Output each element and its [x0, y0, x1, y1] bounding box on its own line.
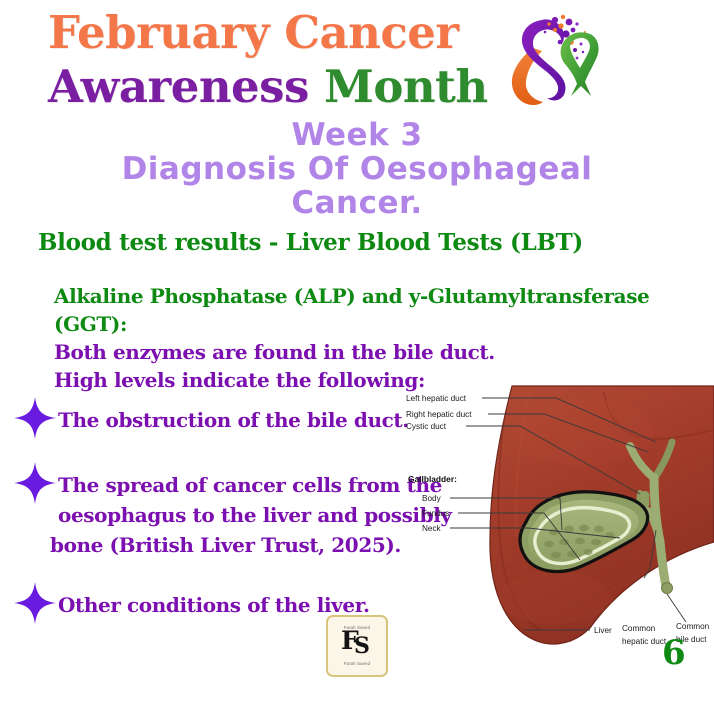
- header-title-awareness: Awareness: [48, 60, 309, 113]
- label-body: Body: [422, 494, 442, 503]
- liver-gallbladder-anatomy-diagram: Left hepatic duct Right hepatic duct Cys…: [404, 372, 714, 668]
- bullet-2-line-2: oesophagus to the liver and possibly: [58, 500, 452, 530]
- subtitle-week: Week 3: [0, 118, 714, 152]
- label-common-hepatic-duct-1: Common: [622, 624, 656, 633]
- logo-micro-bottom: Farah Saeed: [344, 661, 370, 667]
- awareness-ribbons-logo: [497, 4, 601, 116]
- label-cystic-duct: Cystic duct: [406, 422, 447, 431]
- sparkle-star-icon: [12, 395, 58, 441]
- bullet-item-3: Other conditions of the liver.: [56, 590, 370, 626]
- slide-canvas: February Cancer Awareness Month: [0, 0, 714, 715]
- subtitle-block: Week 3 Diagnosis Of Oesophageal Cancer.: [0, 118, 714, 220]
- page-number: 6: [662, 636, 686, 670]
- brand-logo-fs: Farah Saeed F S Farah Saeed: [326, 615, 388, 677]
- header-title-line-1: February Cancer: [48, 6, 488, 60]
- header-title-block: February Cancer Awareness Month: [48, 6, 488, 114]
- label-common-bile-duct-1: Common: [676, 622, 710, 631]
- logo-monogram: F S: [339, 631, 375, 661]
- both-enzymes-line: Both enzymes are found in the bile duct.: [54, 338, 654, 366]
- logo-letter-s: S: [354, 635, 370, 657]
- label-right-hepatic-duct: Right hepatic duct: [406, 410, 472, 419]
- bullet-2-line-3: bone (British Liver Trust, 2025).: [50, 530, 452, 560]
- header-title-cancer: Cancer: [284, 6, 458, 59]
- sparkle-star-icon: [12, 460, 58, 506]
- header-banner: February Cancer Awareness Month: [0, 0, 714, 122]
- subtitle-topic-cont: Cancer.: [0, 186, 714, 220]
- bullet-item-2: The spread of cancer cells from the oeso…: [56, 470, 452, 560]
- sparkle-star-icon: [12, 580, 58, 626]
- bullet-1-text: The obstruction of the bile duct.: [58, 405, 409, 435]
- label-fundus: Fundus: [422, 509, 449, 518]
- header-title-line-2: Awareness Month: [48, 60, 488, 114]
- subtitle-topic: Diagnosis Of Oesophageal: [0, 152, 714, 186]
- bullet-2-line-1: The spread of cancer cells from the: [58, 470, 452, 500]
- bullet-item-1: The obstruction of the bile duct.: [56, 405, 409, 441]
- bullet-2-text: The spread of cancer cells from the oeso…: [58, 470, 452, 560]
- label-gallbladder: Gallbladder:: [408, 474, 457, 484]
- header-title-month: Month: [324, 60, 488, 113]
- label-liver: Liver: [594, 626, 612, 635]
- enzyme-heading-line-2: (GGT):: [54, 310, 654, 338]
- label-neck: Neck: [422, 524, 442, 533]
- header-title-february: February: [48, 6, 269, 59]
- section-heading: Blood test results - Liver Blood Tests (…: [38, 229, 583, 256]
- green-ribbon-shape: [561, 32, 599, 96]
- enzyme-heading-line-1: Alkaline Phosphatase (ALP) and y-Glutamy…: [54, 282, 654, 310]
- label-common-hepatic-duct-2: hepatic duct: [622, 637, 667, 646]
- label-left-hepatic-duct: Left hepatic duct: [406, 394, 467, 403]
- bullet-3-text: Other conditions of the liver.: [58, 590, 370, 620]
